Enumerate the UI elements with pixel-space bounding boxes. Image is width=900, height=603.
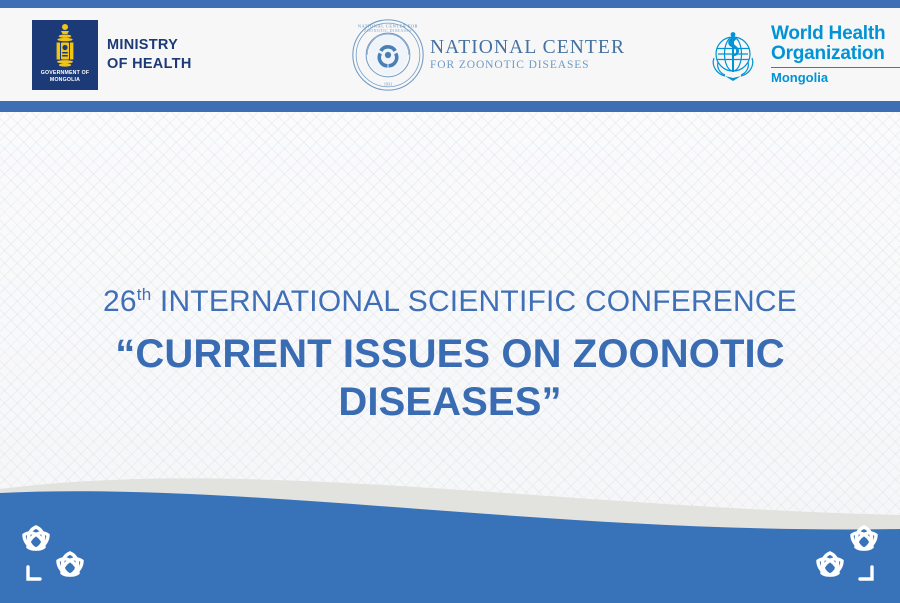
who-name: World Health Organization Mongolia: [771, 24, 900, 86]
soyombo-icon: [52, 23, 78, 69]
header-accent-rule: [0, 101, 900, 112]
who-logo: World Health Organization Mongolia: [702, 8, 900, 101]
ncz-seal-icon: NATIONAL CENTER FOR ZOONOTIC DISEASES 19…: [350, 17, 426, 93]
conference-heading: 26th INTERNATIONAL SCIENTIFIC CONFERENCE: [0, 284, 900, 320]
who-country-label: Mongolia: [771, 70, 900, 85]
ministry-of-health-logo: GOVERNMENT OF MONGOLIA MINISTRY OF HEALT…: [32, 8, 192, 101]
svg-text:ZOONOTIC DISEASES: ZOONOTIC DISEASES: [364, 27, 412, 32]
ncz-name-line2: FOR ZOONOTIC DISEASES: [430, 58, 625, 72]
emblem-caption: GOVERNMENT OF MONGOLIA: [41, 70, 89, 84]
ministry-of-health-name: MINISTRY OF HEALTH: [107, 36, 192, 74]
conference-heading-rest: INTERNATIONAL SCIENTIFIC CONFERENCE: [151, 285, 797, 318]
conference-number: 26: [103, 285, 137, 318]
title-block: 26th INTERNATIONAL SCIENTIFIC CONFERENCE…: [0, 284, 900, 426]
who-divider: [771, 67, 900, 69]
ornament-left-ulzii-knot-icon: [14, 517, 98, 591]
conference-theme: “CURRENT ISSUES ON ZOONOTIC DISEASES”: [0, 330, 900, 426]
bottom-wave-decoration: [0, 463, 900, 603]
top-accent-rule: [0, 0, 900, 8]
who-name-line1: World Health: [771, 24, 900, 44]
national-center-zoonotic-diseases-logo: NATIONAL CENTER FOR ZOONOTIC DISEASES 19…: [350, 8, 625, 101]
ornament-right-ulzii-knot-icon: [802, 517, 886, 591]
theme-line1: “CURRENT ISSUES ON ZOONOTIC: [0, 330, 900, 378]
logo-header-band: GOVERNMENT OF MONGOLIA MINISTRY OF HEALT…: [0, 8, 900, 101]
theme-line2: DISEASES”: [0, 378, 900, 426]
ministry-name-line1: MINISTRY: [107, 36, 192, 55]
ministry-name-line2: OF HEALTH: [107, 55, 192, 74]
ncz-name-line1: NATIONAL CENTER: [430, 37, 625, 58]
who-emblem-icon: [702, 24, 764, 86]
who-name-line2: Organization: [771, 44, 900, 64]
svg-text:1931: 1931: [384, 81, 392, 86]
mongolia-state-emblem-icon: GOVERNMENT OF MONGOLIA: [32, 20, 98, 90]
conference-ordinal: th: [137, 285, 152, 304]
conference-title-slide: GOVERNMENT OF MONGOLIA MINISTRY OF HEALT…: [0, 0, 900, 603]
ncz-name: NATIONAL CENTER FOR ZOONOTIC DISEASES: [430, 37, 625, 72]
